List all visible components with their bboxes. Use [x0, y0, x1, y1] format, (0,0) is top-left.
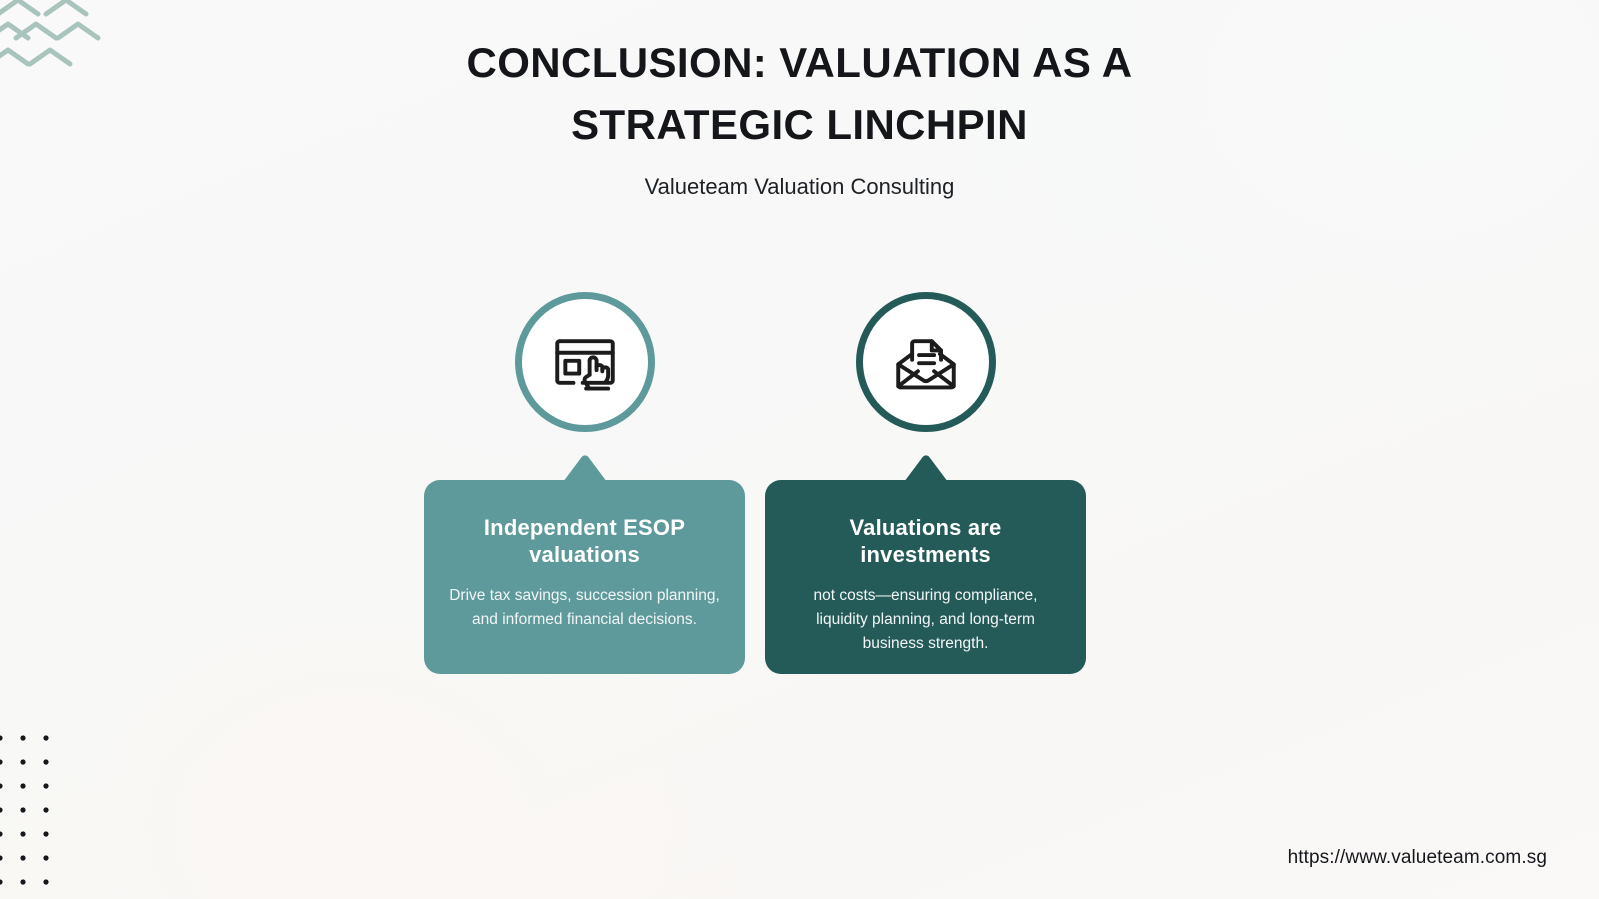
- dot-icon: [43, 855, 48, 860]
- dot-icon: [20, 831, 25, 836]
- dot-grid-decoration: [0, 730, 68, 899]
- footer-website-url[interactable]: https://www.valueteam.com.sg: [1288, 845, 1547, 871]
- page-title: CONCLUSION: VALUATION AS A STRATEGIC LIN…: [420, 0, 1180, 156]
- dot-icon: [0, 807, 3, 812]
- dot-icon: [43, 735, 48, 740]
- card-heading: Valuations are investments: [787, 514, 1064, 568]
- dot-icon: [43, 783, 48, 788]
- dot-icon: [20, 735, 25, 740]
- card-description: Drive tax savings, succession planning, …: [446, 568, 723, 632]
- dot-icon: [20, 879, 25, 884]
- dot-icon: [20, 759, 25, 764]
- dot-icon: [0, 759, 3, 764]
- card-valuations-are-investments: Valuations are investments not costs—ens…: [765, 292, 1086, 674]
- slide-canvas: CONCLUSION: VALUATION AS A STRATEGIC LIN…: [0, 0, 1599, 899]
- card-description: not costs—ensuring compliance, liquidity…: [787, 568, 1064, 656]
- dot-icon: [43, 831, 48, 836]
- slide-header: CONCLUSION: VALUATION AS A STRATEGIC LIN…: [0, 0, 1599, 202]
- dot-icon: [0, 735, 3, 740]
- dot-icon: [20, 855, 25, 860]
- icon-badge-browser-card-pointer: [515, 292, 655, 432]
- card-notch-pointer: [901, 454, 951, 482]
- icon-badge-envelope-document: [856, 292, 996, 432]
- card-notch-pointer: [560, 454, 610, 482]
- envelope-document-icon: [889, 325, 963, 399]
- dot-icon: [0, 879, 3, 884]
- card-body-independent-esop-valuations: Independent ESOP valuations Drive tax sa…: [424, 480, 745, 674]
- dot-icon: [0, 831, 3, 836]
- dot-icon: [20, 783, 25, 788]
- dot-icon: [43, 759, 48, 764]
- dot-icon: [43, 879, 48, 884]
- browser-card-pointer-icon: [548, 325, 622, 399]
- card-body-valuations-are-investments: Valuations are investments not costs—ens…: [765, 480, 1086, 674]
- card-independent-esop-valuations: Independent ESOP valuations Drive tax sa…: [424, 292, 745, 674]
- dot-icon: [0, 855, 3, 860]
- card-heading: Independent ESOP valuations: [446, 514, 723, 568]
- dot-icon: [20, 807, 25, 812]
- dot-icon: [0, 783, 3, 788]
- dot-icon: [43, 807, 48, 812]
- slide-subtitle: Valueteam Valuation Consulting: [0, 156, 1599, 202]
- card-group: Independent ESOP valuations Drive tax sa…: [424, 292, 1086, 674]
